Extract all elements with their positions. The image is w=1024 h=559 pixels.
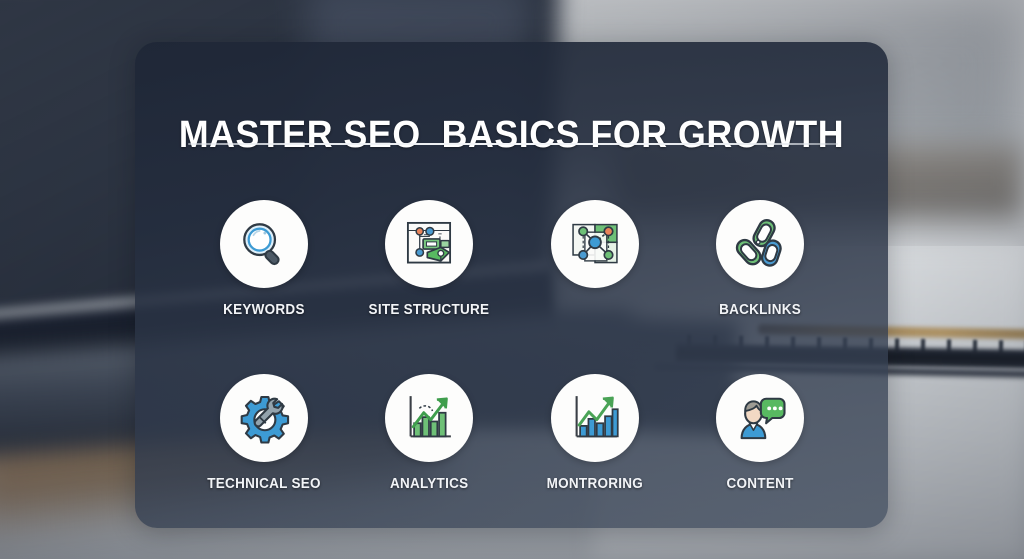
icon-grid: KEYWORDS	[181, 200, 843, 493]
icon-circle	[716, 200, 804, 288]
icon-circle	[385, 374, 473, 462]
person-speech-bubble-icon	[732, 390, 788, 446]
grid-item-label: BACKLINKS	[719, 302, 801, 319]
grid-item-network[interactable]	[512, 200, 678, 319]
chain-links-icon	[731, 215, 789, 273]
content-card: MASTER SEO BASICS FOR GROWTH	[135, 42, 888, 528]
grid-item-content[interactable]: CONTENT	[678, 374, 844, 493]
grid-item-label: ANALYTICS	[390, 476, 468, 493]
grid-item-label: CONTENT	[727, 476, 794, 493]
grid-item-label: TECHNICAL SEO	[207, 476, 321, 493]
icon-row-top: KEYWORDS	[181, 200, 843, 319]
icon-circle	[220, 374, 308, 462]
sitemap-flowchart-icon	[402, 217, 456, 271]
grid-item-label: SITE STRUCTURE	[369, 302, 490, 319]
grid-item-technical-seo[interactable]: TECHNICAL SEO	[181, 374, 347, 493]
grid-item-analytics[interactable]: ANALYTICS	[347, 374, 513, 493]
icon-circle	[551, 200, 639, 288]
icon-circle	[220, 200, 308, 288]
grid-item-label: KEYWORDS	[223, 302, 305, 319]
network-nodes-icon	[568, 217, 622, 271]
icon-row-bottom: TECHNICAL SEO	[181, 374, 843, 493]
gear-wrench-icon	[236, 390, 292, 446]
blue-bar-chart-growth-icon	[567, 390, 623, 446]
title-divider	[188, 143, 838, 145]
grid-item-monitoring[interactable]: MONTRORING	[512, 374, 678, 493]
grid-item-label: MONTRORING	[547, 476, 643, 493]
seo-infographic: MASTER SEO BASICS FOR GROWTH	[0, 0, 1024, 559]
page-title: MASTER SEO BASICS FOR GROWTH	[158, 114, 866, 157]
green-bar-chart-growth-icon	[401, 390, 457, 446]
grid-item-site-structure[interactable]: SITE STRUCTURE	[347, 200, 513, 319]
grid-item-keywords[interactable]: KEYWORDS	[181, 200, 347, 319]
grid-item-backlinks[interactable]: BACKLINKS	[678, 200, 844, 319]
magnifying-glass-icon	[236, 216, 292, 272]
icon-circle	[716, 374, 804, 462]
icon-circle	[551, 374, 639, 462]
icon-circle	[385, 200, 473, 288]
